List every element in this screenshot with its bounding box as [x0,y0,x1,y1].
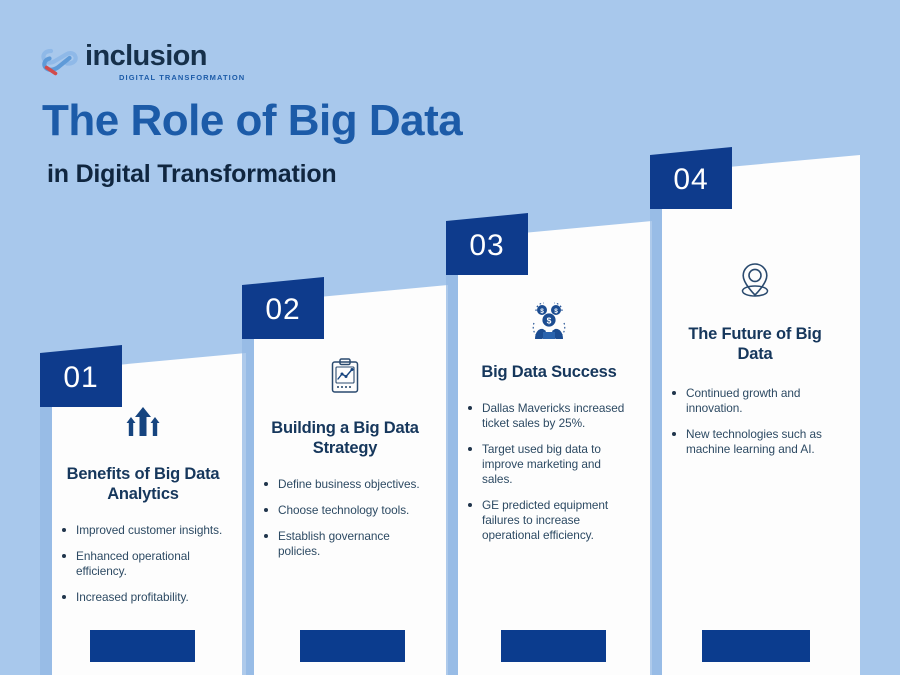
column-01-footer-block [90,630,195,662]
column-03-number-badge: 03 [446,213,528,275]
column-01-content: Benefits of Big Data Analytics Improved … [40,395,246,635]
list-item: New technologies such as machine learnin… [670,427,840,457]
column-02-number: 02 [265,293,300,327]
column-04-bullets: Continued growth and innovation. New tec… [670,386,840,468]
column-02-number-badge: 02 [242,277,324,339]
location-pin-icon [736,261,774,306]
page-title: The Role of Big Data [42,96,462,146]
logo-wordmark: inclusion [85,42,245,71]
svg-text:$: $ [554,308,558,315]
column-03-content: $ $ $ Big Data Success Dallas Mavericks … [446,263,652,635]
column-02-title: Building a Big Data Strategy [262,418,428,458]
column-01: 01 Benefits of Big Data Analytics Improv… [40,345,246,675]
column-02-bullets: Define business objectives. Choose techn… [262,477,428,570]
column-01-bullets: Improved customer insights. Enhanced ope… [60,523,226,616]
list-item: Continued growth and innovation. [670,386,840,416]
list-item: Establish governance policies. [262,529,428,559]
column-04-footer-block [702,630,810,662]
clipboard-chart-icon [328,357,362,402]
column-01-number-badge: 01 [40,345,122,407]
list-item: GE predicted equipment failures to incre… [466,498,632,543]
page-subtitle: in Digital Transformation [47,160,336,189]
brand-logo: inclusion DIGITAL TRANSFORMATION [40,42,245,82]
column-03-title: Big Data Success [481,362,616,382]
svg-text:$: $ [547,316,552,326]
three-up-arrows-icon [123,403,163,448]
column-01-title: Benefits of Big Data Analytics [60,464,226,504]
column-02-footer-block [300,630,405,662]
list-item: Target used big data to improve marketin… [466,442,632,487]
column-01-number: 01 [63,361,98,395]
column-04-number-badge: 04 [650,147,732,209]
column-04-title: The Future of Big Data [670,324,840,364]
column-03-footer-block [501,630,606,662]
column-04-number: 04 [673,163,708,197]
column-02-content: Building a Big Data Strategy Define busi… [242,327,448,635]
column-03-number: 03 [469,229,504,263]
logo-tagline: DIGITAL TRANSFORMATION [119,74,245,82]
column-04: 04 The Future of Big Data Continued grow… [650,147,860,675]
column-03: 03 $ $ $ [446,213,652,675]
column-04-content: The Future of Big Data Continued growth … [650,197,860,635]
list-item: Enhanced operational efficiency. [60,549,226,579]
cloud-infinity-logo-icon [40,44,78,78]
list-item: Choose technology tools. [262,503,428,518]
list-item: Increased profitability. [60,590,226,605]
hands-holding-coins-icon: $ $ $ [530,301,568,346]
column-03-bullets: Dallas Mavericks increased ticket sales … [466,401,632,554]
svg-text:$: $ [540,308,544,315]
column-02: 02 Building a Big Data Strateg [242,277,448,675]
list-item: Improved customer insights. [60,523,226,538]
infographic-canvas: inclusion DIGITAL TRANSFORMATION The Rol… [0,0,900,675]
list-item: Dallas Mavericks increased ticket sales … [466,401,632,431]
list-item: Define business objectives. [262,477,428,492]
